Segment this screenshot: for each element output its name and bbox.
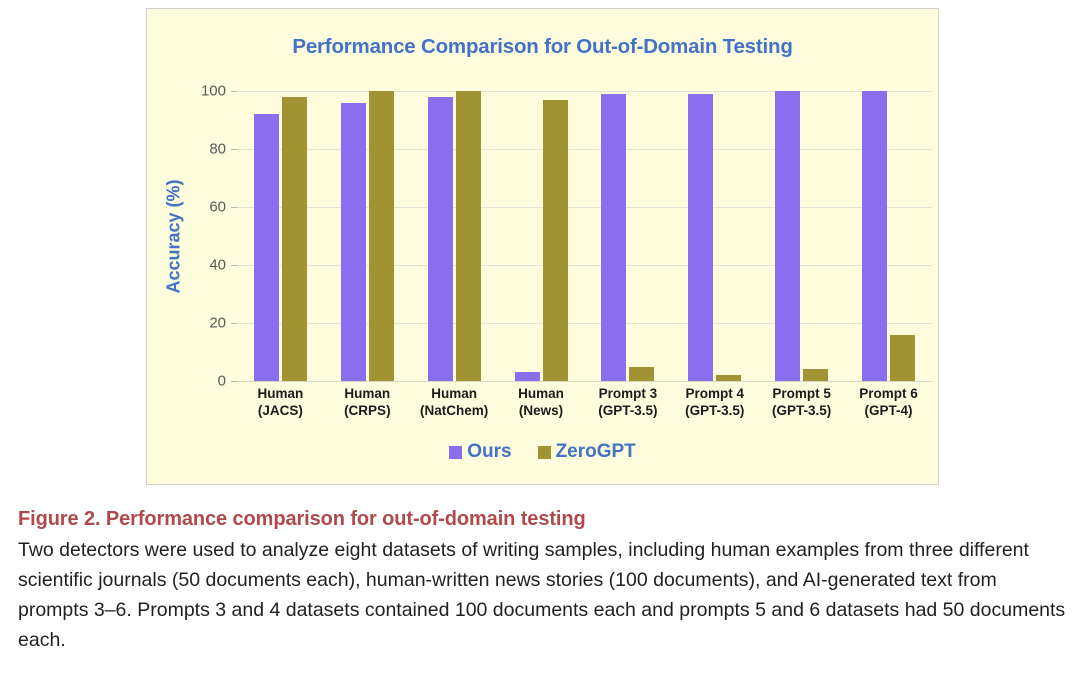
y-tick-label-80: 80	[209, 141, 226, 158]
x-axis-label: Human(News)	[498, 385, 585, 419]
x-axis-label-line: (GPT-3.5)	[758, 402, 845, 419]
x-axis-label-line: Human	[237, 385, 324, 402]
x-axis-label: Prompt 6(GPT-4)	[845, 385, 932, 419]
bar	[543, 100, 568, 381]
gridline-0	[237, 381, 932, 382]
bar	[456, 91, 481, 381]
x-axis-label-line: (JACS)	[237, 402, 324, 419]
bar	[716, 375, 741, 381]
legend-item-ours[interactable]: Ours	[449, 441, 511, 463]
bar-group	[498, 91, 585, 381]
figure-panel: Performance Comparison for Out-of-Domain…	[146, 8, 939, 485]
y-axis-title-label: Accuracy (%)	[164, 179, 185, 293]
bar	[775, 91, 800, 381]
legend-label: Ours	[467, 441, 511, 463]
x-axis-label-line: (CRPS)	[324, 402, 411, 419]
x-axis-label: Prompt 3(GPT-3.5)	[585, 385, 672, 419]
x-axis-label-line: (GPT-3.5)	[671, 402, 758, 419]
legend-swatch-icon	[538, 446, 551, 459]
bar	[862, 91, 887, 381]
bar	[369, 91, 394, 381]
bar	[601, 94, 626, 381]
bar	[803, 369, 828, 381]
bar-group	[845, 91, 932, 381]
x-axis-label: Human(CRPS)	[324, 385, 411, 419]
y-axis-title: Accuracy (%)	[161, 91, 187, 381]
bar-group	[758, 91, 845, 381]
x-axis-label-line: (GPT-3.5)	[585, 402, 672, 419]
x-axis-label-line: Prompt 4	[671, 385, 758, 402]
y-tick-label-40: 40	[209, 257, 226, 274]
figure-caption: Figure 2. Performance comparison for out…	[18, 508, 1070, 655]
bar	[629, 367, 654, 382]
x-axis-labels: Human(JACS)Human(CRPS)Human(NatChem)Huma…	[237, 385, 932, 431]
y-tick-label-20: 20	[209, 315, 226, 332]
caption-heading: Figure 2. Performance comparison for out…	[18, 508, 1070, 531]
bar-group	[324, 91, 411, 381]
x-axis-label-line: Prompt 3	[585, 385, 672, 402]
x-axis-label-line: Human	[411, 385, 498, 402]
legend-label: ZeroGPT	[556, 441, 636, 463]
x-axis-label-line: Human	[498, 385, 585, 402]
x-axis-label-line: Prompt 6	[845, 385, 932, 402]
y-tick-label-60: 60	[209, 199, 226, 216]
x-axis-label-line: Human	[324, 385, 411, 402]
bar-group	[671, 91, 758, 381]
x-axis-label-line: Prompt 5	[758, 385, 845, 402]
bar	[890, 335, 915, 381]
y-tick-mark-0	[231, 381, 237, 382]
x-axis-label: Prompt 5(GPT-3.5)	[758, 385, 845, 419]
x-axis-label: Prompt 4(GPT-3.5)	[671, 385, 758, 419]
bar	[688, 94, 713, 381]
bar-group	[411, 91, 498, 381]
x-axis-label-line: (GPT-4)	[845, 402, 932, 419]
bar	[254, 114, 279, 381]
x-axis-label-line: (NatChem)	[411, 402, 498, 419]
x-axis-label: Human(JACS)	[237, 385, 324, 419]
legend-swatch-icon	[449, 446, 462, 459]
bar	[282, 97, 307, 381]
bar	[515, 372, 540, 381]
x-axis-label: Human(NatChem)	[411, 385, 498, 419]
bar	[341, 103, 366, 381]
y-tick-label-100: 100	[201, 83, 226, 100]
caption-body: Two detectors were used to analyze eight…	[18, 535, 1070, 655]
bar-group	[237, 91, 324, 381]
legend-item-zerogpt[interactable]: ZeroGPT	[538, 441, 636, 463]
x-axis-label-line: (News)	[498, 402, 585, 419]
y-tick-label-0: 0	[218, 373, 226, 390]
bar	[428, 97, 453, 381]
bar-group	[585, 91, 672, 381]
chart-title: Performance Comparison for Out-of-Domain…	[147, 35, 938, 59]
chart-legend: OursZeroGPT	[147, 441, 938, 463]
plot-area: 020406080100	[237, 91, 932, 381]
